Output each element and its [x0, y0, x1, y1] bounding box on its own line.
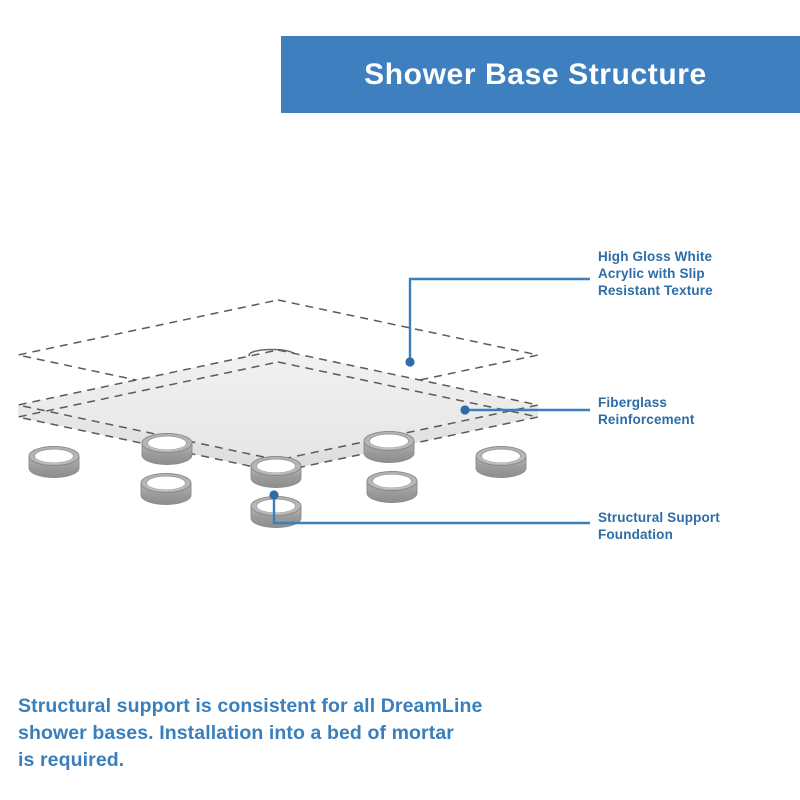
drain-ellipse: [249, 350, 295, 361]
leader-dot-fiberglass: [460, 405, 469, 414]
callout-label-acrylic: High Gloss White Acrylic with Slip Resis…: [598, 248, 713, 299]
fiberglass-slab-top-outline: [18, 350, 538, 460]
support-ring: [367, 472, 417, 503]
diagram-page: Shower Base Structure: [0, 0, 800, 800]
support-ring: [142, 434, 192, 465]
support-ring: [29, 447, 79, 478]
support-rings-group: [29, 432, 526, 528]
acrylic-layer-group: [18, 300, 538, 410]
title-banner: Shower Base Structure: [281, 36, 800, 113]
support-ring: [251, 457, 301, 488]
fiberglass-layer-group: [18, 350, 538, 472]
leader-dot-support: [269, 490, 278, 499]
page-title: Shower Base Structure: [364, 58, 707, 92]
leader-lines-group: [269, 279, 590, 523]
footer-caption: Structural support is consistent for all…: [18, 693, 538, 774]
acrylic-plane-outline: [18, 300, 538, 410]
support-ring: [251, 497, 301, 528]
support-ring: [141, 474, 191, 505]
callout-label-support: Structural Support Foundation: [598, 509, 720, 543]
leader-line-support: [274, 495, 590, 523]
leader-line-acrylic: [410, 279, 590, 362]
support-ring: [364, 432, 414, 463]
leader-dot-acrylic: [405, 357, 414, 366]
fiberglass-slab-bottom-outline: [18, 362, 538, 472]
support-ring: [476, 447, 526, 478]
callout-label-fiberglass: Fiberglass Reinforcement: [598, 394, 694, 428]
